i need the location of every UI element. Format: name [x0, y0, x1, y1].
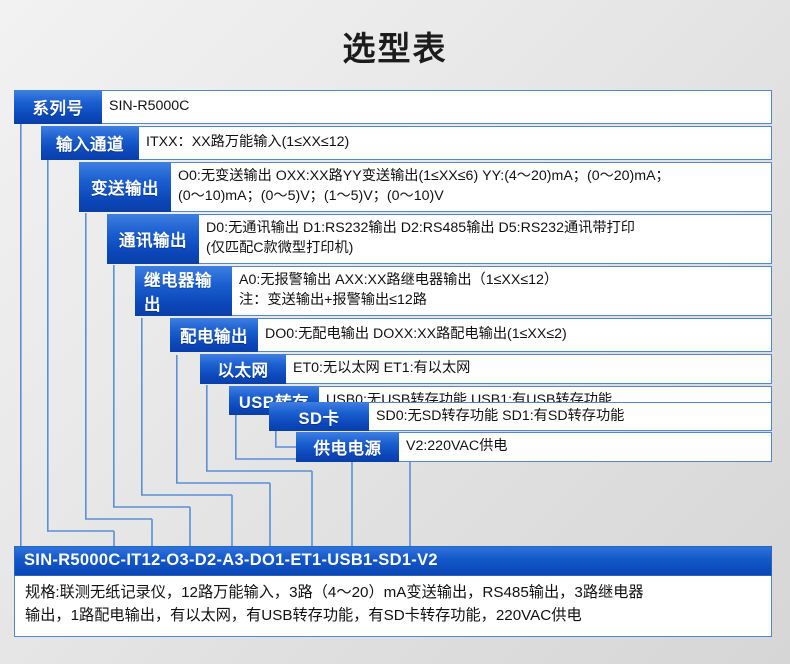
- summary-block: SIN-R5000C-IT12-O3-D2-A3-DO1-ET1-USB1-SD…: [14, 546, 772, 637]
- row-value-line: O0:无变送输出 OXX:XX路YY变送输出(1≤XX≤6) YY:(4～20)…: [178, 167, 771, 187]
- row-value-line: SIN-R5000C: [109, 97, 771, 117]
- row-value: D0:无通讯输出 D1:RS232输出 D2:RS485输出 D5:RS232通…: [199, 214, 772, 264]
- table-row: 配电输出 DO0:无配电输出 DOXX:XX路配电输出(1≤XX≤2): [170, 318, 772, 352]
- table-row: 继电器输出 A0:无报警输出 AXX:XX路继电器输出（1≤XX≤12） 注：变…: [135, 266, 772, 316]
- table-row: 通讯输出 D0:无通讯输出 D1:RS232输出 D2:RS485输出 D5:R…: [107, 214, 772, 264]
- row-value-line: DO0:无配电输出 DOXX:XX路配电输出(1≤XX≤2): [265, 325, 771, 345]
- table-row: SD卡 SD0:无SD转存功能 SD1:有SD转存功能: [269, 402, 772, 431]
- spec-line: 输出，1路配电输出，有以太网，有USB转存功能，有SD卡转存功能，220VAC供…: [25, 605, 761, 628]
- table-row: 以太网 ET0:无以太网 ET1:有以太网: [200, 354, 772, 384]
- spec-description: 规格:联测无纸记录仪，12路万能输入，3路（4～20）mA变送输出，RS485输…: [14, 576, 772, 637]
- row-label: 输入通道: [41, 126, 139, 160]
- selection-table-diagram: 选型表: [0, 0, 790, 664]
- model-code: SIN-R5000C-IT12-O3-D2-A3-DO1-ET1-USB1-SD…: [14, 546, 772, 576]
- table-row: 输入通道 ITXX：XX路万能输入(1≤XX≤12): [41, 126, 772, 160]
- row-label: 通讯输出: [107, 214, 199, 264]
- row-value: ET0:无以太网 ET1:有以太网: [286, 354, 772, 384]
- row-label: SD卡: [269, 402, 369, 431]
- row-value-line: ITXX：XX路万能输入(1≤XX≤12): [146, 133, 771, 153]
- row-value-line: ET0:无以太网 ET1:有以太网: [293, 359, 771, 379]
- row-value-line: SD0:无SD转存功能 SD1:有SD转存功能: [376, 407, 771, 427]
- row-label: 继电器输出: [135, 266, 232, 316]
- row-value-line: (0～10)mA；(0～5)V；(1～5)V；(0～10)V: [178, 187, 771, 207]
- row-value-line: (仅匹配C款微型打印机): [206, 239, 771, 259]
- row-value: V2:220VAC供电: [399, 432, 772, 462]
- table-row: 变送输出 O0:无变送输出 OXX:XX路YY变送输出(1≤XX≤6) YY:(…: [79, 162, 772, 212]
- row-value: DO0:无配电输出 DOXX:XX路配电输出(1≤XX≤2): [258, 318, 772, 352]
- row-value: SD0:无SD转存功能 SD1:有SD转存功能: [369, 402, 772, 431]
- row-label: 供电电源: [296, 432, 399, 462]
- row-value-line: V2:220VAC供电: [406, 437, 771, 457]
- spec-line: 规格:联测无纸记录仪，12路万能输入，3路（4～20）mA变送输出，RS485输…: [25, 582, 761, 605]
- row-label: 以太网: [200, 354, 286, 384]
- row-value: A0:无报警输出 AXX:XX路继电器输出（1≤XX≤12） 注：变送输出+报警…: [232, 266, 772, 316]
- table-row: 供电电源 V2:220VAC供电: [296, 432, 772, 462]
- row-label: 配电输出: [170, 318, 258, 352]
- row-value: ITXX：XX路万能输入(1≤XX≤12): [139, 126, 772, 160]
- row-label: 系列号: [14, 90, 102, 124]
- row-value: O0:无变送输出 OXX:XX路YY变送输出(1≤XX≤6) YY:(4～20)…: [171, 162, 772, 212]
- row-value-line: A0:无报警输出 AXX:XX路继电器输出（1≤XX≤12）: [239, 271, 771, 291]
- row-value: SIN-R5000C: [102, 90, 772, 124]
- row-value-line: D0:无通讯输出 D1:RS232输出 D2:RS485输出 D5:RS232通…: [206, 219, 771, 239]
- row-label: 变送输出: [79, 162, 171, 212]
- table-row: 系列号 SIN-R5000C: [14, 90, 772, 124]
- row-value-line: 注：变送输出+报警输出≤12路: [239, 291, 771, 311]
